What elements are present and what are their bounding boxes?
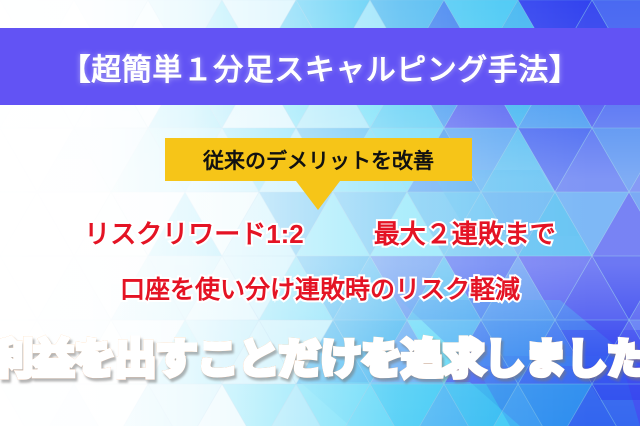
headline-wrap: 利益を出すことだけを追求しました	[0, 325, 640, 385]
callout-label: 従来のデメリットを改善	[203, 145, 434, 175]
callout-box: 従来のデメリットを改善	[165, 138, 472, 181]
page-title: 【超簡単１分足スキャルピング手法】	[61, 45, 580, 89]
headline-text: 利益を出すことだけを追求しました	[0, 325, 640, 385]
benefit-row-1: リスクリワード1:2 最大２連敗まで	[0, 214, 640, 251]
promo-slide: 【超簡単１分足スキャルピング手法】 従来のデメリットを改善 リスクリワード1:2…	[0, 0, 640, 426]
title-band: 【超簡単１分足スキャルピング手法】	[0, 28, 640, 105]
benefit-risk-reward: リスクリワード1:2	[84, 214, 304, 251]
benefit-max-losses: 最大２連敗まで	[374, 214, 556, 251]
benefit-row-2: 口座を使い分け連敗時のリスク軽減	[0, 270, 640, 306]
benefit-account-split: 口座を使い分け連敗時のリスク軽減	[120, 270, 520, 306]
callout-tail-triangle	[296, 181, 340, 210]
